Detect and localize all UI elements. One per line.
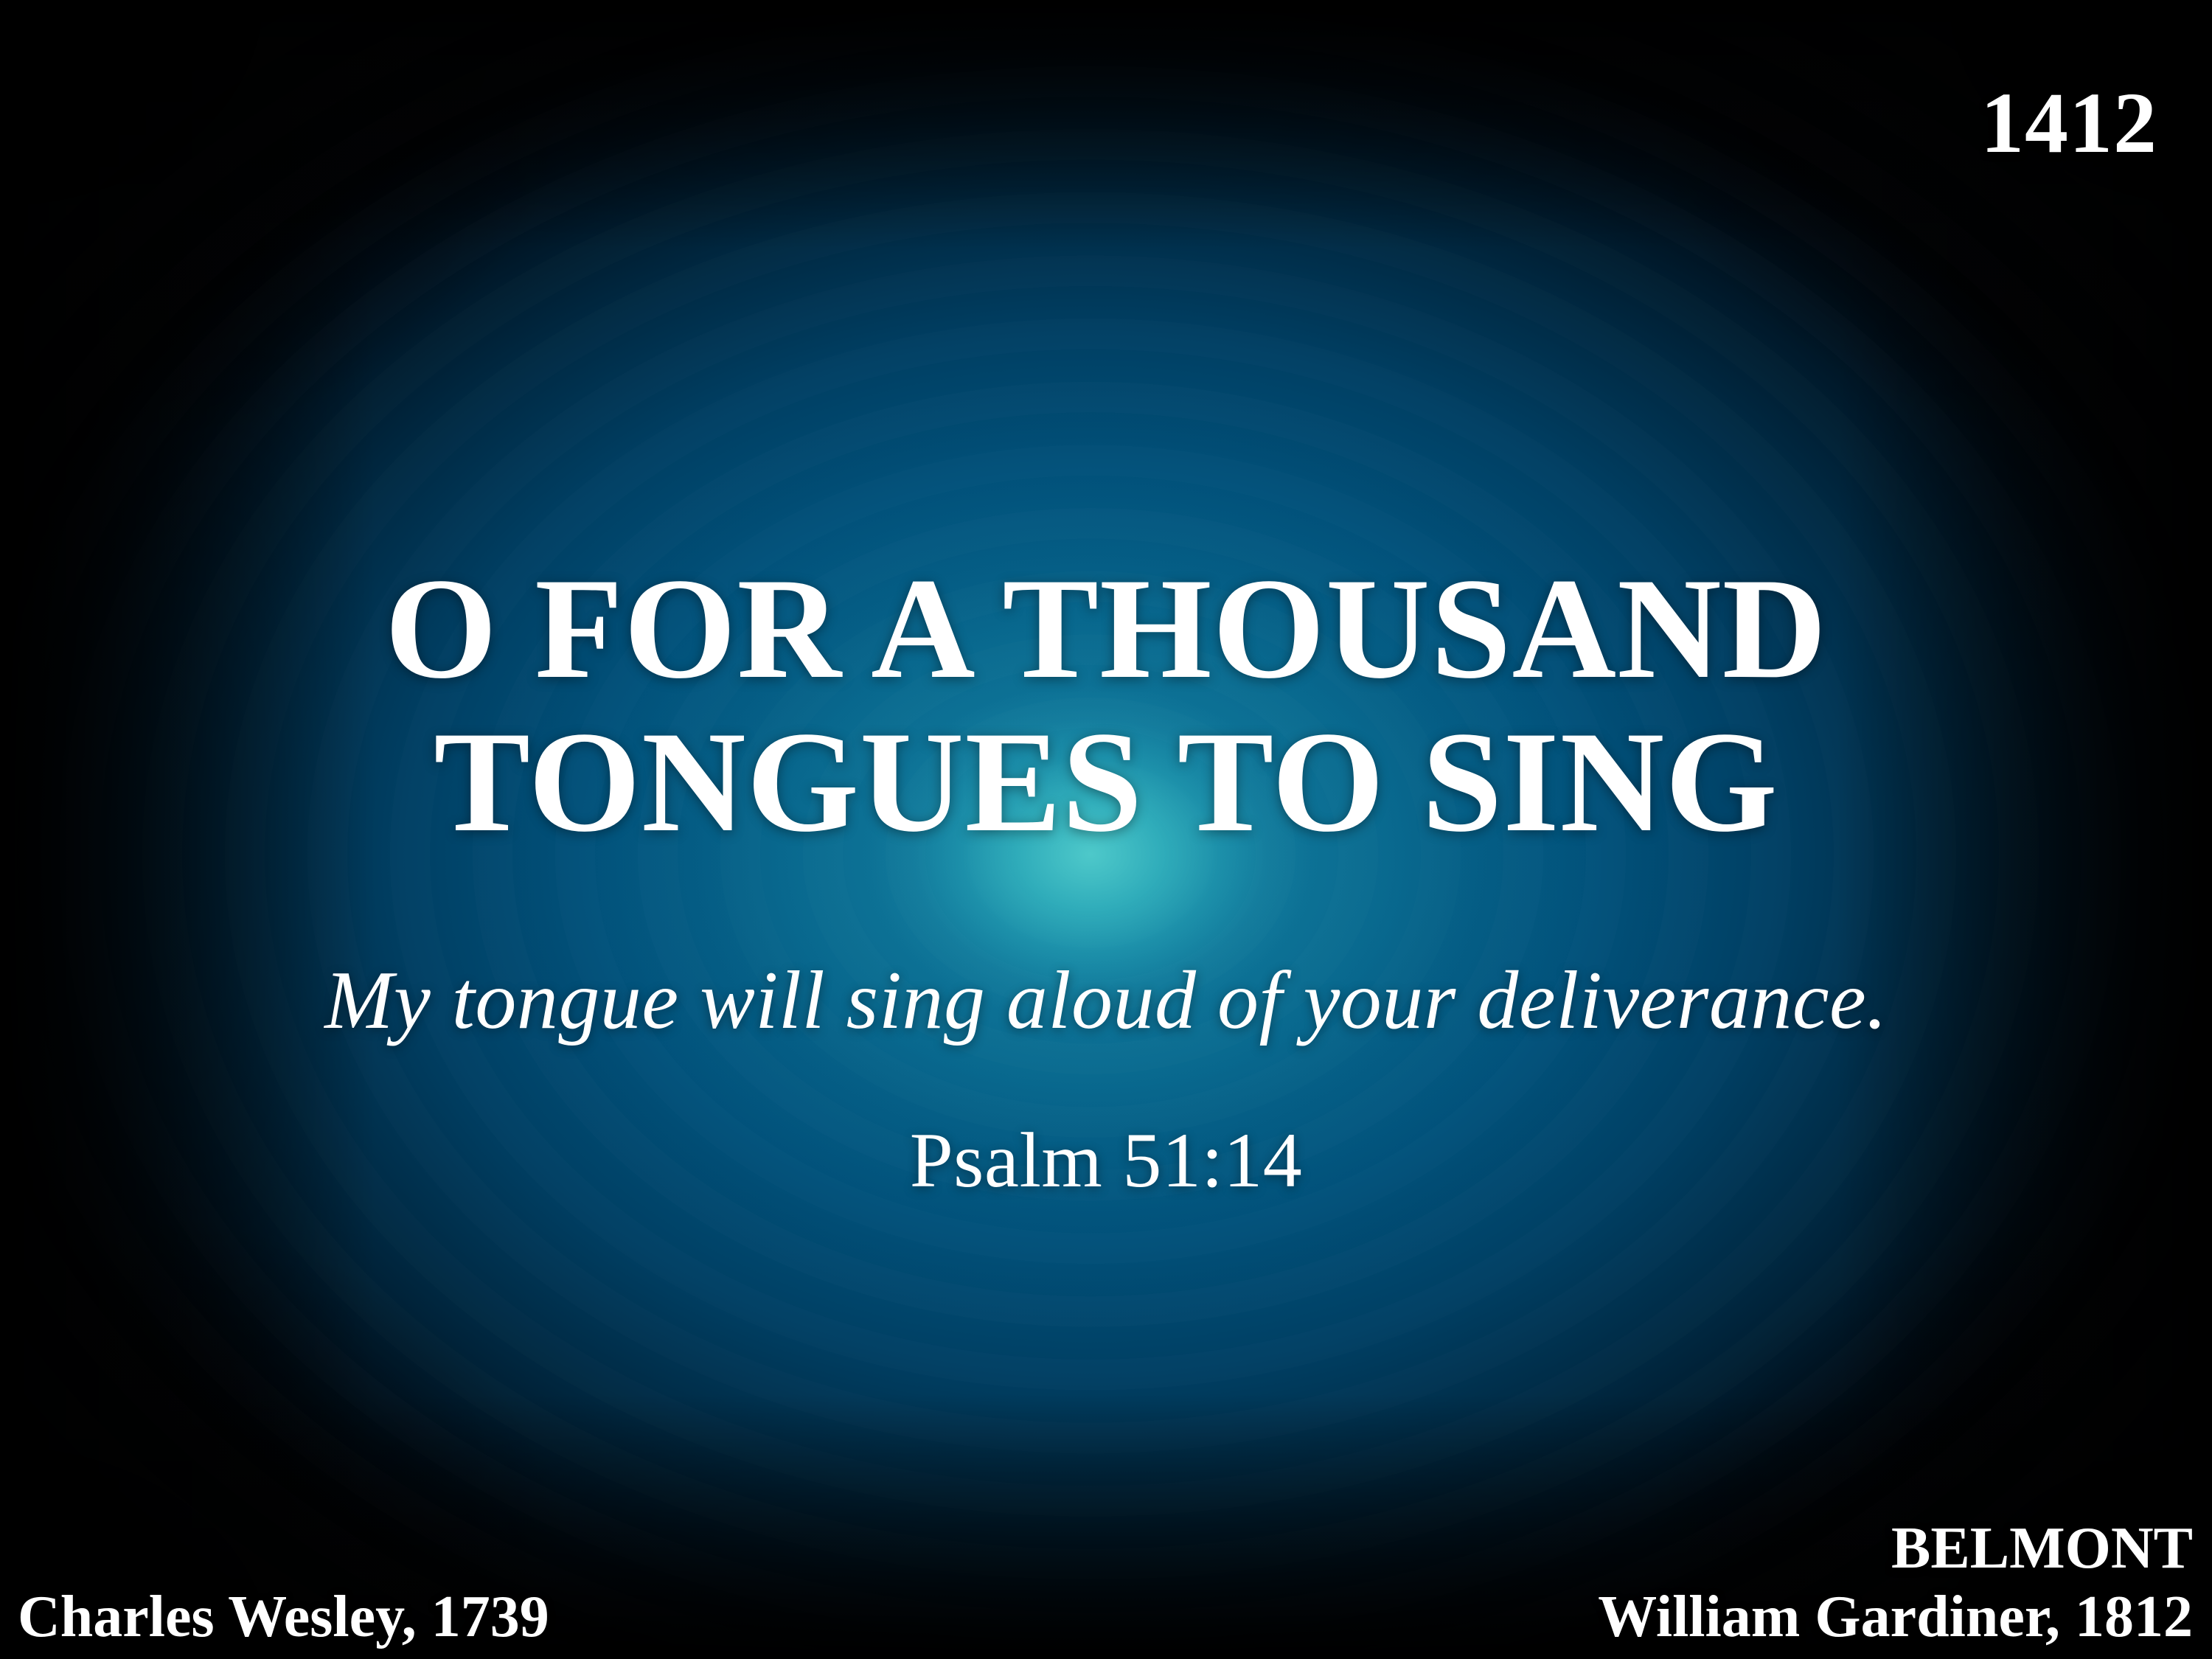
composer-credit: William Gardiner, 1812	[1598, 1583, 2193, 1652]
hymn-slide: 1412 O FOR A THOUSAND TONGUES TO SING My…	[0, 0, 2212, 1659]
hymn-title-line-2: TONGUES TO SING	[0, 706, 2212, 859]
tune-name: BELMONT	[1598, 1514, 2193, 1583]
scripture-reference: Psalm 51:14	[0, 1118, 2212, 1204]
hymn-title: O FOR A THOUSAND TONGUES TO SING	[0, 552, 2212, 859]
hymn-number: 1412	[1980, 80, 2157, 167]
scripture-quote: My tongue will sing aloud of your delive…	[0, 956, 2212, 1046]
tune-credit: BELMONT William Gardiner, 1812	[1598, 1514, 2193, 1652]
hymn-title-line-1: O FOR A THOUSAND	[0, 552, 2212, 706]
slide-content: 1412 O FOR A THOUSAND TONGUES TO SING My…	[0, 0, 2212, 1659]
author-credit: Charles Wesley, 1739	[18, 1583, 549, 1652]
